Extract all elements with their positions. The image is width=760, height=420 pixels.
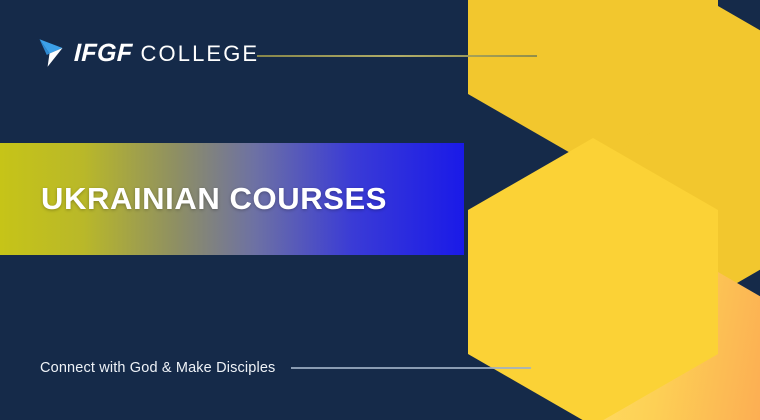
ifgf-arrow-logo-icon	[38, 38, 64, 68]
hexagon-right-top	[593, 6, 760, 294]
brand-secondary-text: COLLEGE	[141, 41, 260, 67]
tagline-divider-rule	[291, 367, 531, 369]
tagline-row: Connect with God & Make Disciples	[40, 358, 531, 378]
title-gradient-band: UKRAINIAN COURSES	[0, 143, 464, 255]
brand-header: IFGF COLLEGE	[38, 36, 259, 70]
hexagon-top	[468, 0, 718, 166]
brand-wordmark: IFGF COLLEGE	[74, 39, 259, 68]
hexagon-gradient	[593, 272, 760, 420]
page-title: UKRAINIAN COURSES	[41, 181, 387, 217]
tagline-text: Connect with God & Make Disciples	[40, 360, 275, 376]
header-divider-rule	[257, 55, 537, 57]
ifgf-college-banner: IFGF COLLEGE UKRAINIAN COURSES Connect w…	[0, 0, 760, 420]
brand-primary-text: IFGF	[73, 39, 133, 68]
